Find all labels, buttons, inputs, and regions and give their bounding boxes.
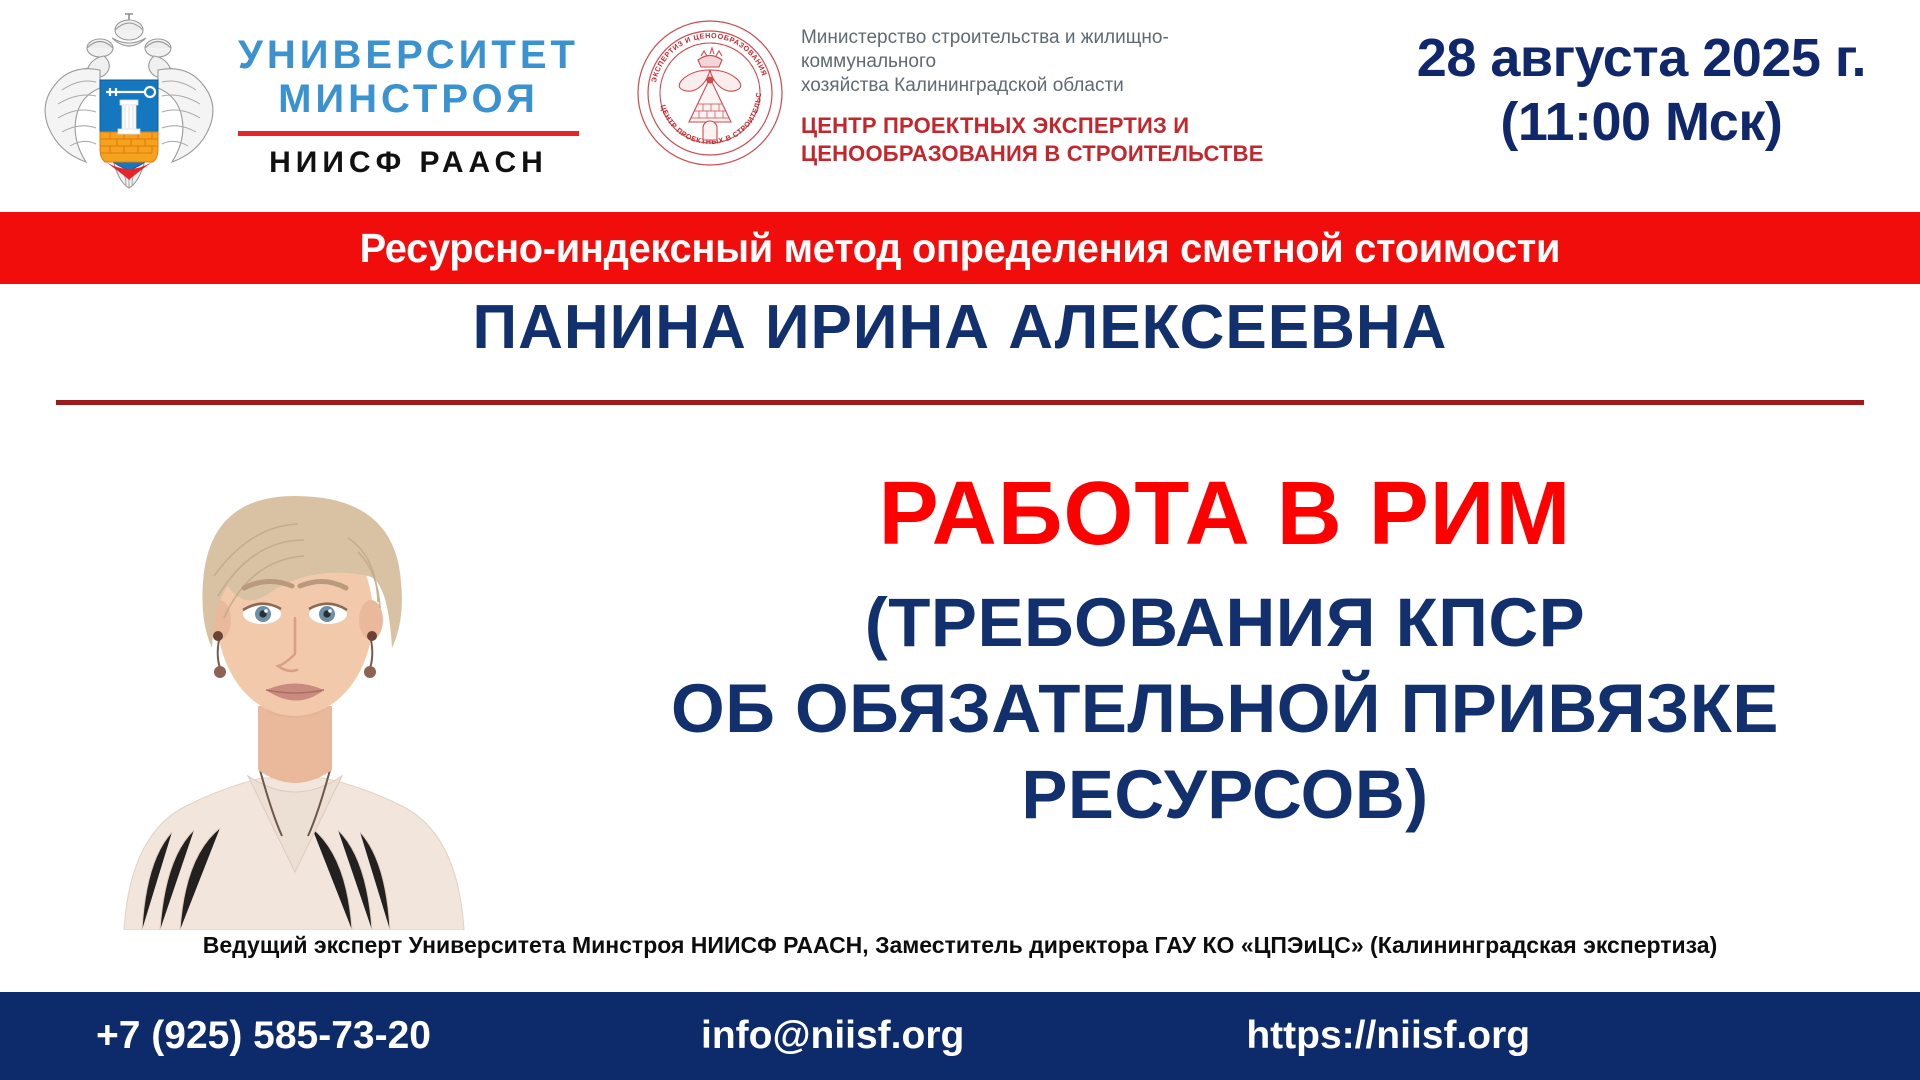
ministry-line-2: хозяйства Калининградской области bbox=[801, 74, 1271, 98]
org-line-1: ЦЕНТР ПРОЕКТНЫХ ЭКСПЕРТИЗ И bbox=[801, 112, 1271, 140]
speaker-name-divider bbox=[56, 400, 1864, 405]
ministry-text-block: Министерство строительства и жилищно-ком… bbox=[801, 18, 1271, 168]
org-line-2: ЦЕНООБРАЗОВАНИЯ В СТРОИТЕЛЬСТВЕ bbox=[801, 140, 1271, 168]
russian-double-headed-eagle-emblem-icon bbox=[34, 8, 224, 198]
contact-phone[interactable]: +7 (925) 585-73-20 bbox=[96, 1014, 431, 1058]
center-of-project-expertise-round-seal-icon: ЭКСПЕРТИЗ И ЦЕНООБРАЗОВАНИЯ ЦЕНТР ПРОЕКТ… bbox=[635, 18, 785, 168]
contact-footer: +7 (925) 585-73-20 info@niisf.org https:… bbox=[0, 992, 1920, 1080]
brand-divider bbox=[238, 131, 579, 136]
title-subtitle-line-1: (ТРЕБОВАНИЯ КПСР bbox=[560, 580, 1890, 666]
brand-left-text: УНИВЕРСИТЕТ МИНСТРОЯ НИИСФ РААСН bbox=[238, 27, 579, 180]
presentation-title: РАБОТА В РИМ (ТРЕБОВАНИЯ КПСР ОБ ОБЯЗАТЕ… bbox=[560, 462, 1890, 838]
title-subtitle-line-3: РЕСУРСОВ) bbox=[560, 752, 1890, 838]
speaker-credentials-caption: Ведущий эксперт Университета Минстроя НИ… bbox=[0, 932, 1920, 959]
event-date: 28 августа 2025 г. bbox=[1417, 26, 1866, 90]
brand-line-universitet: УНИВЕРСИТЕТ bbox=[238, 33, 579, 77]
speaker-portrait-photo bbox=[90, 420, 500, 930]
topic-banner: Ресурсно-индексный метод определения сме… bbox=[0, 212, 1920, 284]
webinar-announcement-poster: УНИВЕРСИТЕТ МИНСТРОЯ НИИСФ РААСН bbox=[0, 0, 1920, 1080]
event-time: (11:00 Мск) bbox=[1417, 90, 1866, 154]
contact-website[interactable]: https://niisf.org bbox=[1246, 1014, 1530, 1058]
brand-line-minstroya: МИНСТРОЯ bbox=[238, 77, 579, 121]
brand-university-minstroy: УНИВЕРСИТЕТ МИНСТРОЯ НИИСФ РААСН bbox=[34, 8, 579, 198]
ministry-line-1: Министерство строительства и жилищно-ком… bbox=[801, 26, 1271, 74]
event-date-block: 28 августа 2025 г. (11:00 Мск) bbox=[1417, 26, 1866, 154]
title-subtitle-blue: (ТРЕБОВАНИЯ КПСР ОБ ОБЯЗАТЕЛЬНОЙ ПРИВЯЗК… bbox=[560, 580, 1890, 838]
title-subtitle-line-2: ОБ ОБЯЗАТЕЛЬНОЙ ПРИВЯЗКЕ bbox=[560, 666, 1890, 752]
brand-expertise-center: ЭКСПЕРТИЗ И ЦЕНООБРАЗОВАНИЯ ЦЕНТР ПРОЕКТ… bbox=[635, 18, 1271, 168]
brand-line-niisf-raasn: НИИСФ РААСН bbox=[238, 146, 579, 180]
topic-banner-text: Ресурсно-индексный метод определения сме… bbox=[360, 225, 1561, 272]
speaker-name: ПАНИНА ИРИНА АЛЕКСЕЕВНА bbox=[0, 292, 1920, 363]
contact-email[interactable]: info@niisf.org bbox=[701, 1014, 964, 1058]
title-main-red: РАБОТА В РИМ bbox=[560, 462, 1890, 566]
poster-header: УНИВЕРСИТЕТ МИНСТРОЯ НИИСФ РААСН bbox=[0, 0, 1920, 212]
